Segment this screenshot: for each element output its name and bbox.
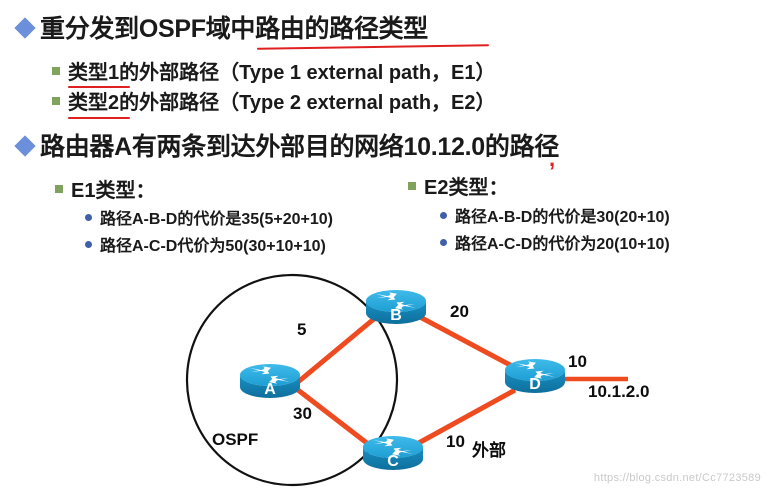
heading-level1-routerA: 路由器A有两条到达外部目的网络10.12.0的路径 (16, 134, 559, 160)
green-square-bullet-icon (52, 97, 60, 105)
heading1-suffix: 域中路由的路径类型 (206, 16, 428, 42)
topology-svg: A B C D (0, 262, 769, 488)
router-b-label: B (390, 307, 402, 324)
cost-label-ac: 30 (293, 404, 312, 424)
green-square-bullet-icon (408, 182, 416, 190)
blue-dot-bullet-icon (440, 212, 447, 219)
diamond-bullet-icon (16, 19, 34, 37)
e1-item-0-text: 路径A-B-D的代价是35(5+20+10) (100, 212, 333, 229)
external-area-label: 外部 (472, 436, 506, 461)
e2-item-0-text: 路径A-B-D的代价是30(20+10) (455, 210, 670, 227)
e1-item-1: 路径A-C-D代价为50(30+10+10) (85, 239, 326, 256)
blue-dot-bullet-icon (440, 239, 447, 246)
type2-rest: 的外部路径（Type 2 external path，E2） (119, 93, 495, 114)
type2-keyword: 类型2 (68, 93, 119, 114)
slide-canvas: 重分发到OSPF域中路由的路径类型 类型1的外部路径（Type 1 extern… (0, 0, 769, 488)
green-square-bullet-icon (52, 67, 60, 75)
e2-item-1-text: 路径A-C-D的代价为20(10+10) (455, 237, 670, 254)
e1-item-1-text: 路径A-C-D代价为50(30+10+10) (100, 239, 326, 256)
router-a-icon[interactable]: A (240, 364, 300, 398)
router-c-label: C (387, 453, 399, 470)
type1-keyword: 类型1 (68, 63, 119, 84)
heading1-red-underline (257, 44, 489, 50)
network-topology-diagram: A B C D 5 30 20 10 10 10.1.2.0 OSPF 外部 h… (0, 262, 769, 488)
cost-label-cd: 10 (446, 432, 465, 452)
type2-red-underline (68, 117, 130, 119)
heading-level1-redistribute: 重分发到OSPF域中路由的路径类型 (16, 16, 428, 42)
heading2-pre: 路由器A有两条到达外部目的网络10.1 (40, 134, 451, 160)
external-network-label: 10.1.2.0 (588, 382, 649, 402)
ospf-area-label: OSPF (212, 430, 258, 450)
sub-bullet-type2: 类型2的外部路径（Type 2 external path，E2） (52, 93, 496, 114)
green-square-bullet-icon (55, 185, 63, 193)
router-d-label: D (529, 376, 541, 393)
e1-item-0: 路径A-B-D的代价是35(5+20+10) (85, 212, 333, 229)
e2-item-0: 路径A-B-D的代价是30(20+10) (440, 210, 670, 227)
type1-rest: 的外部路径（Type 1 external path，E1） (119, 63, 495, 84)
e2-title-text: E2类型： (424, 178, 508, 199)
column-title-e1: E1类型： (55, 181, 155, 202)
router-a-label: A (264, 381, 276, 398)
cost-label-d-out: 10 (568, 352, 587, 372)
cost-label-ab: 5 (297, 320, 306, 340)
heading1-prefix: 重分发到 (40, 16, 139, 42)
blue-dot-bullet-icon (85, 214, 92, 221)
router-c-icon[interactable]: C (363, 436, 423, 470)
heading2-red-comma-mark: , (549, 146, 555, 172)
e2-item-1: 路径A-C-D的代价为20(10+10) (440, 237, 670, 254)
heading2-post: 2.0的路径 (451, 134, 559, 160)
diamond-bullet-icon (16, 137, 34, 155)
router-b-icon[interactable]: B (366, 290, 426, 324)
type1-red-underline (68, 86, 130, 88)
column-title-e2: E2类型： (408, 178, 508, 199)
link-b-d (420, 317, 512, 366)
e1-title-text: E1类型： (71, 181, 155, 202)
heading1-ospf: OSPF (139, 16, 206, 42)
link-a-b (298, 318, 375, 382)
router-d-icon[interactable]: D (505, 359, 565, 393)
watermark-text: https://blog.csdn.net/Cc7723589 (594, 472, 761, 484)
sub-bullet-type1: 类型1的外部路径（Type 1 external path，E1） (52, 63, 496, 84)
cost-label-bd: 20 (450, 302, 469, 322)
blue-dot-bullet-icon (85, 241, 92, 248)
